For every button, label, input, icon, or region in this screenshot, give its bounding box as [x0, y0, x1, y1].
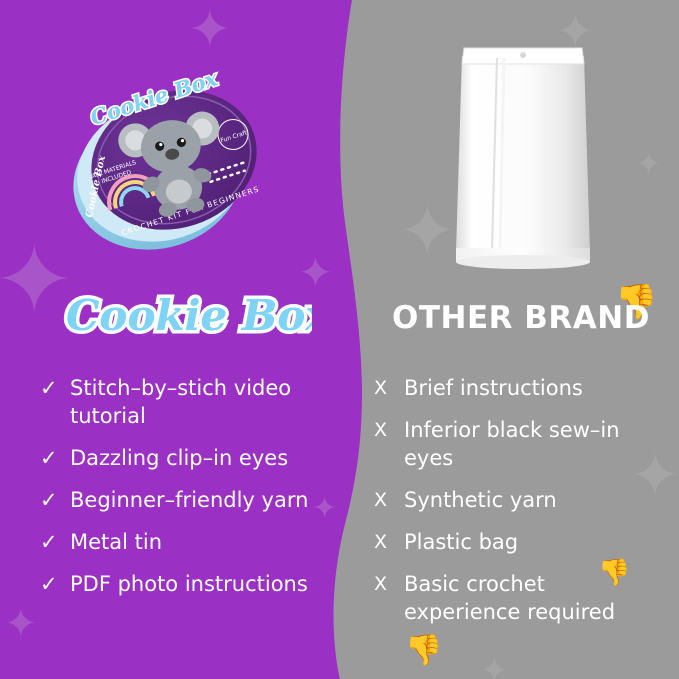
- cross-icon: X: [374, 486, 404, 514]
- check-icon: ✓: [40, 528, 70, 556]
- list-item-label: Stitch–by–stich video tutorial: [70, 374, 330, 430]
- cross-icon: X: [374, 570, 404, 598]
- list-item: ✓ Stitch–by–stich video tutorial: [40, 374, 340, 430]
- list-item: ✓ Metal tin: [40, 528, 340, 556]
- check-icon: ✓: [40, 570, 70, 598]
- list-item: X Brief instructions: [374, 374, 664, 402]
- cookie-box-feature-list: ✓ Stitch–by–stich video tutorial ✓ Dazzl…: [40, 374, 340, 612]
- list-item-label: Synthetic yarn: [404, 486, 557, 514]
- list-item: X Inferior black sew–in eyes: [374, 416, 664, 472]
- product-image-cookie-box-tin: Cookie Box Cookie Box ALL MATERIALS INCL…: [62, 48, 282, 248]
- check-icon: ✓: [40, 486, 70, 514]
- sparkle-icon: ✦: [4, 604, 38, 644]
- other-brand-title: OTHER BRAND: [392, 300, 650, 336]
- list-item-label: Brief instructions: [404, 374, 583, 402]
- cross-icon: X: [374, 416, 404, 444]
- cross-icon: X: [374, 528, 404, 556]
- list-item: X Plastic bag: [374, 528, 664, 556]
- list-item-label: Plastic bag: [404, 528, 518, 556]
- list-item-label: Inferior black sew–in eyes: [404, 416, 664, 472]
- list-item-label: Basic crochet experience required: [404, 570, 664, 626]
- list-item-label: Dazzling clip–in eyes: [70, 444, 288, 472]
- list-item-label: Metal tin: [70, 528, 162, 556]
- product-image-plastic-pouch: [440, 38, 600, 268]
- sparkle-icon: ✦: [480, 654, 509, 679]
- other-brand-feature-list: X Brief instructions X Inferior black se…: [374, 374, 664, 640]
- list-item: ✓ Beginner–friendly yarn: [40, 486, 340, 514]
- cross-icon: X: [374, 374, 404, 402]
- list-item: ✓ Dazzling clip–in eyes: [40, 444, 340, 472]
- comparison-infographic: ✦ ✦ ✦ ✦ ✦ 👎 👎 👎 ✦ ✦ ✦ ✦ ✦: [0, 0, 679, 679]
- check-icon: ✓: [40, 444, 70, 472]
- sparkle-icon: ✦: [636, 150, 661, 180]
- list-item-label: PDF photo instructions: [70, 570, 308, 598]
- list-item-label: Beginner–friendly yarn: [70, 486, 308, 514]
- check-icon: ✓: [40, 374, 70, 402]
- list-item: X Synthetic yarn: [374, 486, 664, 514]
- brand-logo-text: Cookie Box: [66, 291, 312, 340]
- brand-logo: Cookie Box Cookie Box: [62, 282, 302, 344]
- list-item: ✓ PDF photo instructions: [40, 570, 340, 598]
- list-item: X Basic crochet experience required: [374, 570, 664, 626]
